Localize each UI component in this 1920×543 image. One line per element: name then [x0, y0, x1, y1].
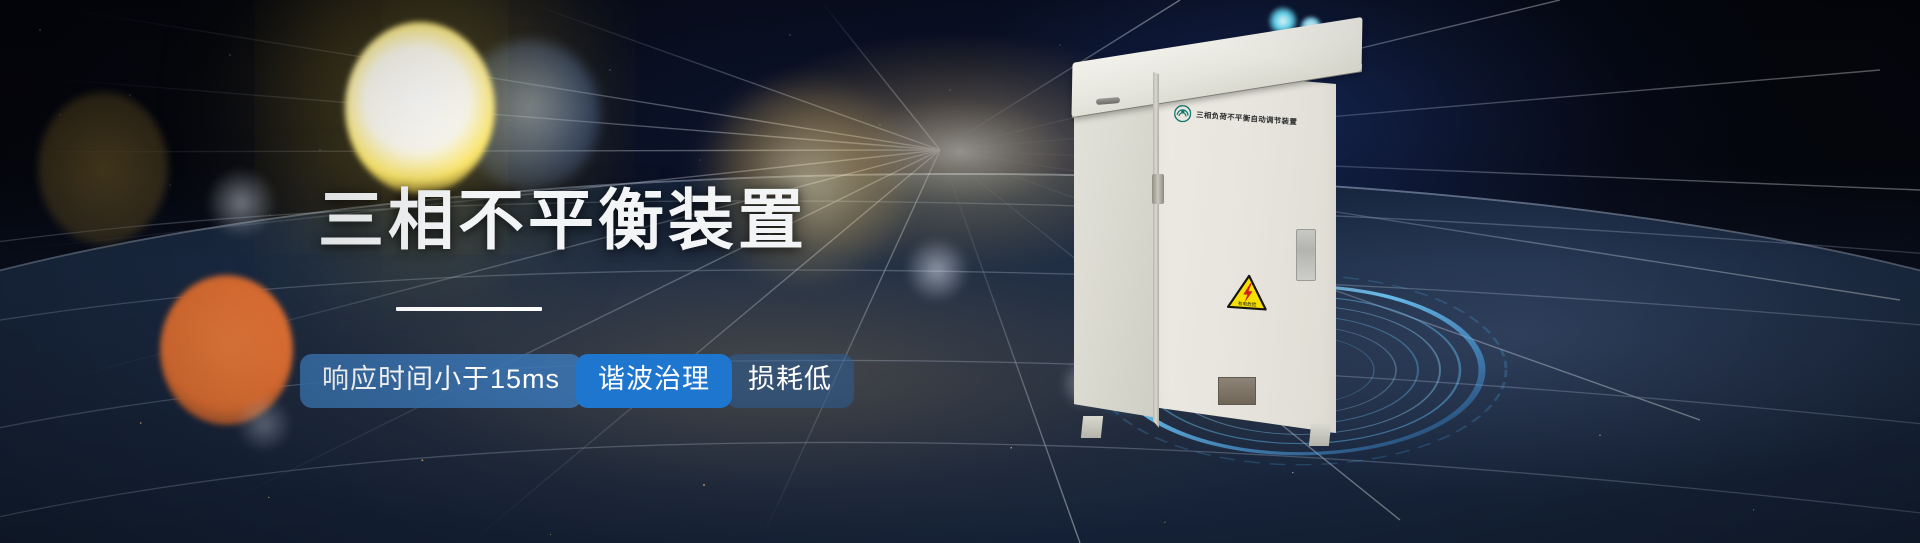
tag-response-time[interactable]: 响应时间小于15ms — [300, 354, 582, 408]
electric-hazard-warning-icon: 有电危险 — [1227, 273, 1269, 312]
cabinet-door-latch — [1152, 174, 1164, 204]
cabinet-door-hinge — [1153, 72, 1159, 428]
cabinet-foot-left — [1081, 416, 1103, 438]
feature-tag-row: 响应时间小于15ms 谐波治理 损耗低 — [300, 354, 854, 408]
cabinet-vent-slot — [1296, 229, 1316, 281]
tag-harmonic-control[interactable]: 谐波治理 — [576, 354, 732, 408]
page-title: 三相不平衡装置 — [318, 186, 958, 255]
headline-block: 三相不平衡装置 — [318, 186, 958, 311]
night-earth-surface — [0, 175, 1920, 543]
title-divider — [396, 307, 542, 311]
hero-banner: 三相不平衡装置 响应时间小于15ms 谐波治理 损耗低 三相负荷不平衡自动调节装… — [0, 0, 1920, 543]
product-cabinet: 三相负荷不平衡自动调节装置 有电危险 — [1060, 24, 1400, 444]
cabinet-side-panel — [1074, 70, 1158, 418]
cabinet-bottom-grille — [1218, 377, 1256, 405]
teal-circular-brand-logo — [1174, 105, 1192, 123]
tag-low-loss[interactable]: 损耗低 — [726, 354, 854, 408]
cabinet-foot-right — [1309, 424, 1331, 446]
